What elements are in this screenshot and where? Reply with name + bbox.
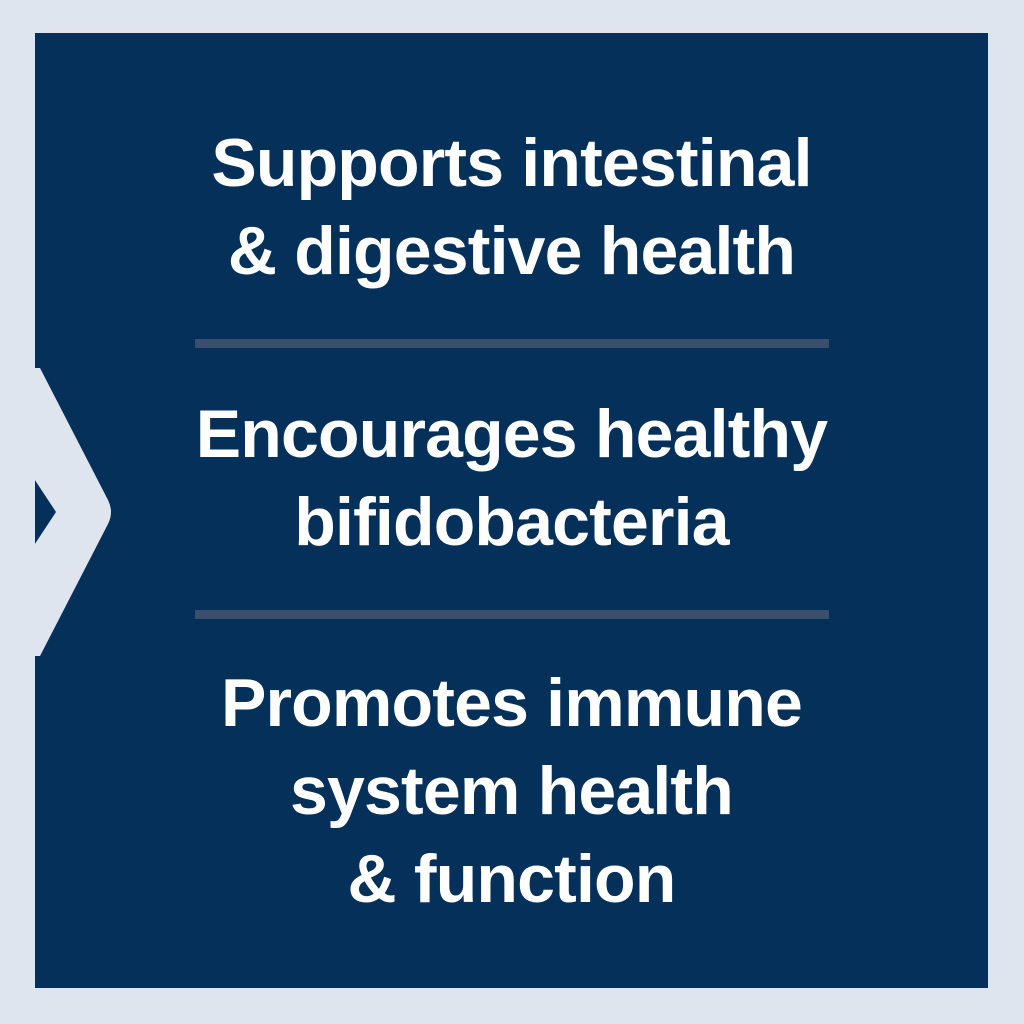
benefit-line: Promotes immune (35, 659, 988, 747)
benefit-divider (195, 339, 829, 348)
benefit-line: & function (35, 835, 988, 923)
benefit-item-intestinal-digestive-health: Supports intestinal & digestive health (35, 119, 988, 295)
benefit-line: & digestive health (35, 207, 988, 295)
benefit-line: system health (35, 747, 988, 835)
benefit-divider (195, 610, 829, 619)
benefit-item-immune-system-health: Promotes immune system health & function (35, 659, 988, 923)
benefits-list: Supports intestinal & digestive health E… (35, 33, 988, 988)
benefit-line: Encourages healthy (35, 390, 988, 478)
benefit-line: Supports intestinal (35, 119, 988, 207)
poster-canvas: Supports intestinal & digestive health E… (0, 0, 1024, 1024)
benefit-line: bifidobacteria (35, 478, 988, 566)
benefit-item-healthy-bifidobacteria: Encourages healthy bifidobacteria (35, 390, 988, 566)
